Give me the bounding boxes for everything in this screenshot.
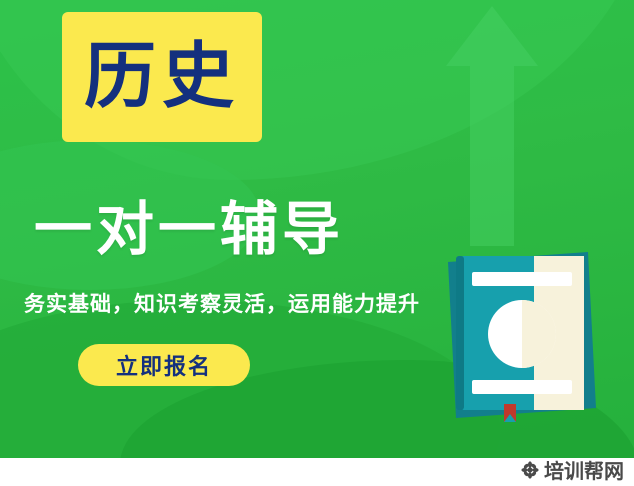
poster-background: 历史 一对一辅导 务实基础，知识考察灵活，运用能力提升 立即报名 (0, 0, 634, 458)
banner-image: 历史 一对一辅导 务实基础，知识考察灵活，运用能力提升 立即报名 (0, 0, 634, 486)
subject-badge-label: 历史 (84, 41, 240, 113)
watermark: 培训帮网 (520, 455, 624, 484)
up-arrow-icon (446, 6, 538, 246)
signup-button[interactable]: 立即报名 (78, 344, 250, 386)
subject-badge: 历史 (62, 12, 262, 142)
flower-logo-icon (520, 460, 540, 480)
book-icon (438, 248, 606, 422)
poster-subline: 务实基础，知识考察灵活，运用能力提升 (24, 288, 420, 318)
watermark-label: 培训帮网 (544, 455, 624, 484)
poster-headline: 一对一辅导 (34, 182, 344, 266)
signup-button-label: 立即报名 (116, 349, 212, 381)
